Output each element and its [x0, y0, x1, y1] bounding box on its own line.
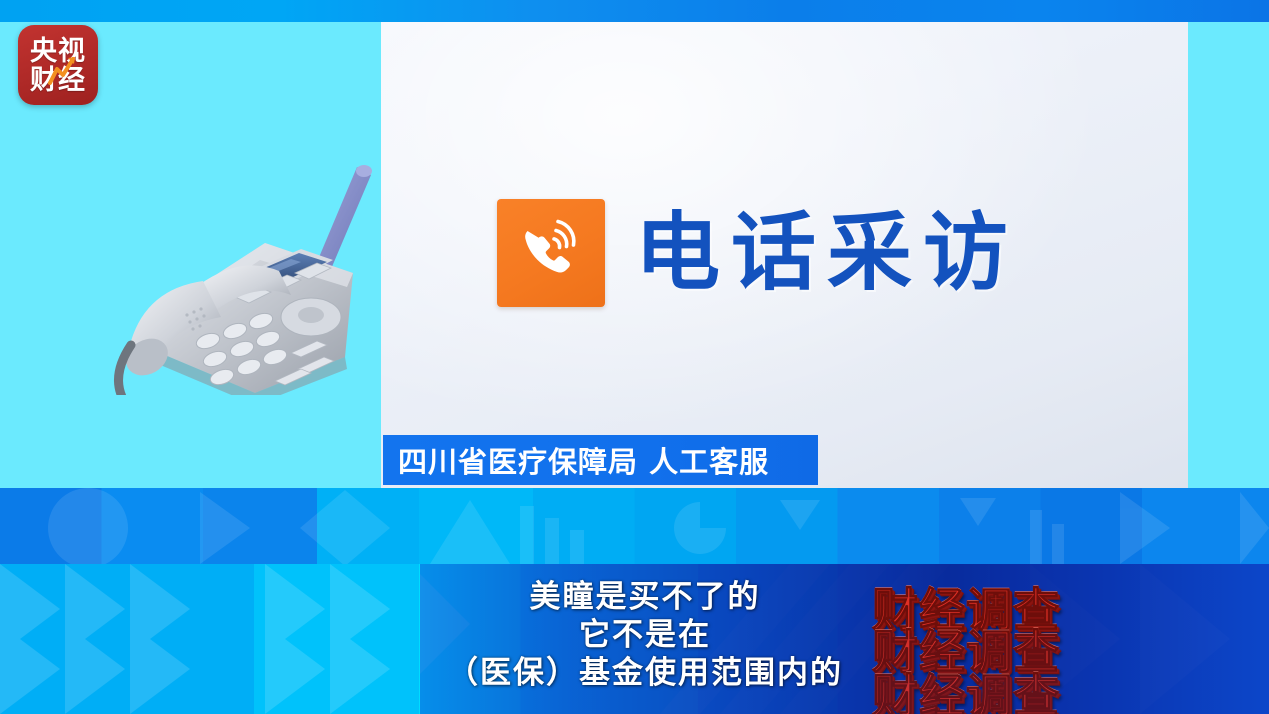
- caption-text: 四川省医疗保障局 人工客服: [383, 439, 769, 481]
- broadcast-frame: 电话采访 四川省医疗保障局 人工客服: [0, 0, 1269, 714]
- phone-antenna: [317, 165, 372, 269]
- program-logo: 财经调查 财经调查 财经调查: [872, 572, 1162, 714]
- desk-telephone-image: [95, 145, 380, 395]
- cctv-finance-logo: 央视 财经: [18, 25, 98, 105]
- caption-bar: 四川省医疗保障局 人工客服: [383, 435, 818, 485]
- phone-nav-wheel: [281, 298, 341, 336]
- subtitle-block: 美瞳是买不了的 它不是在 （医保）基金使用范围内的: [420, 578, 870, 692]
- subtitle-line: 美瞳是买不了的: [420, 578, 870, 616]
- headline-title: 电话采访: [635, 211, 1019, 296]
- phone-call-icon: [497, 199, 605, 307]
- headline-group: 电话采访: [497, 199, 1019, 307]
- pattern-band: [0, 488, 1269, 564]
- top-accent-bar: [0, 0, 1269, 22]
- pattern-band-glyphs: [0, 488, 1269, 564]
- subtitle-line: （医保）基金使用范围内的: [420, 654, 870, 692]
- program-logo-row: 财经调查: [872, 660, 1060, 714]
- subtitle-line: 它不是在: [420, 616, 870, 654]
- chart-arrow-icon: [18, 25, 98, 105]
- phone-call-glyph: [515, 217, 587, 289]
